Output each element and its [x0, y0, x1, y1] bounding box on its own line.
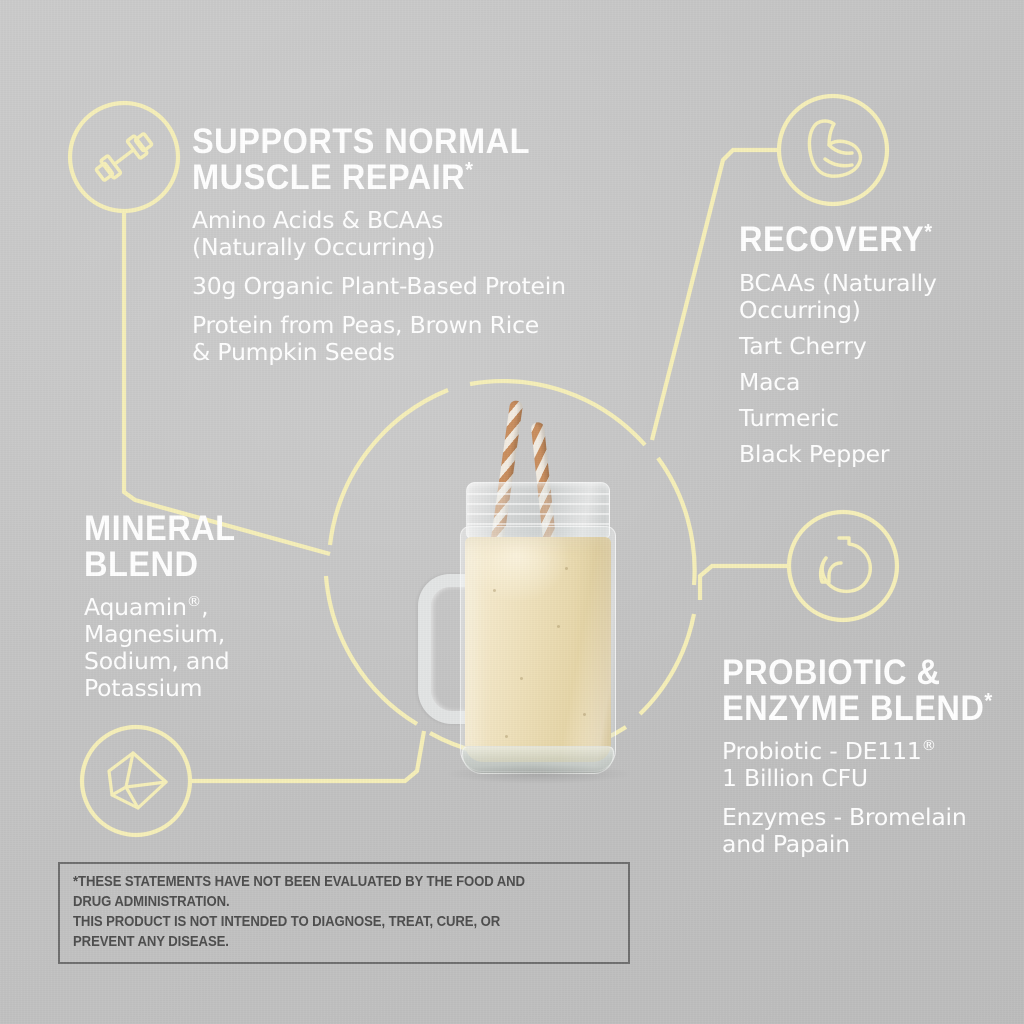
section-recovery-item-0: BCAAs (Naturally Occurring)	[739, 270, 1009, 324]
stomach-icon	[821, 538, 871, 591]
connector-probiotic	[700, 566, 789, 600]
section-muscle-repair-item-0: Amino Acids & BCAAs (Naturally Occurring…	[192, 207, 592, 261]
connector-mineral	[190, 731, 424, 781]
infographic-canvas: SUPPORTS NORMAL MUSCLE REPAIR* Amino Aci…	[0, 0, 1024, 1024]
section-recovery-item-2: Maca	[739, 369, 1009, 396]
registered-mark: ®	[922, 738, 936, 755]
jar-shadow	[444, 764, 634, 784]
section-probiotic-enzyme-item-0: Probiotic - DE111® 1 Billion CFU	[722, 738, 1022, 792]
section-recovery: RECOVERY* BCAAs (Naturally Occurring) Ta…	[739, 222, 1009, 468]
section-muscle-repair-heading: SUPPORTS NORMAL MUSCLE REPAIR*	[192, 124, 564, 195]
section-probiotic-enzyme-item-1: Enzymes - Bromelain and Papain	[722, 804, 1022, 858]
section-muscle-repair-item-1: 30g Organic Plant-Based Protein	[192, 273, 592, 300]
section-muscle-repair: SUPPORTS NORMAL MUSCLE REPAIR* Amino Aci…	[192, 124, 592, 366]
section-recovery-item-1: Tart Cherry	[739, 333, 1009, 360]
section-mineral-blend-heading: MINERAL BLEND	[84, 511, 326, 582]
section-muscle-repair-item-2: Protein from Peas, Brown Rice & Pumpkin …	[192, 312, 592, 366]
section-mineral-blend: MINERAL BLEND Aquamin®, Magnesium, Sodiu…	[84, 511, 344, 702]
section-probiotic-enzyme: PROBIOTIC & ENZYME BLEND* Probiotic - DE…	[722, 655, 1022, 858]
fda-disclaimer-box: *THESE STATEMENTS HAVE NOT BEEN EVALUATE…	[58, 862, 630, 964]
crystal-circle	[82, 727, 190, 835]
fda-disclaimer-text: *THESE STATEMENTS HAVE NOT BEEN EVALUATE…	[73, 873, 562, 952]
stomach-circle	[789, 512, 897, 620]
section-probiotic-enzyme-heading: PROBIOTIC & ENZYME BLEND*	[722, 655, 1001, 726]
section-recovery-item-3: Turmeric	[739, 405, 1009, 432]
section-mineral-blend-item-0: Aquamin®, Magnesium, Sodium, and Potassi…	[84, 594, 344, 702]
dumbbell-icon	[93, 130, 154, 184]
asterisk: *	[465, 156, 473, 181]
asterisk: *	[984, 687, 992, 712]
crystal-icon	[109, 753, 166, 808]
bicep-icon	[809, 121, 860, 176]
jar-body	[460, 526, 616, 772]
mason-jar-smoothie-image	[404, 378, 654, 788]
section-recovery-heading: RECOVERY*	[739, 222, 990, 258]
center-ring-right	[658, 458, 695, 585]
registered-mark: ®	[187, 594, 201, 611]
smoothie-fill	[465, 537, 611, 762]
section-recovery-item-4: Black Pepper	[739, 441, 1009, 468]
asterisk: *	[924, 218, 932, 243]
